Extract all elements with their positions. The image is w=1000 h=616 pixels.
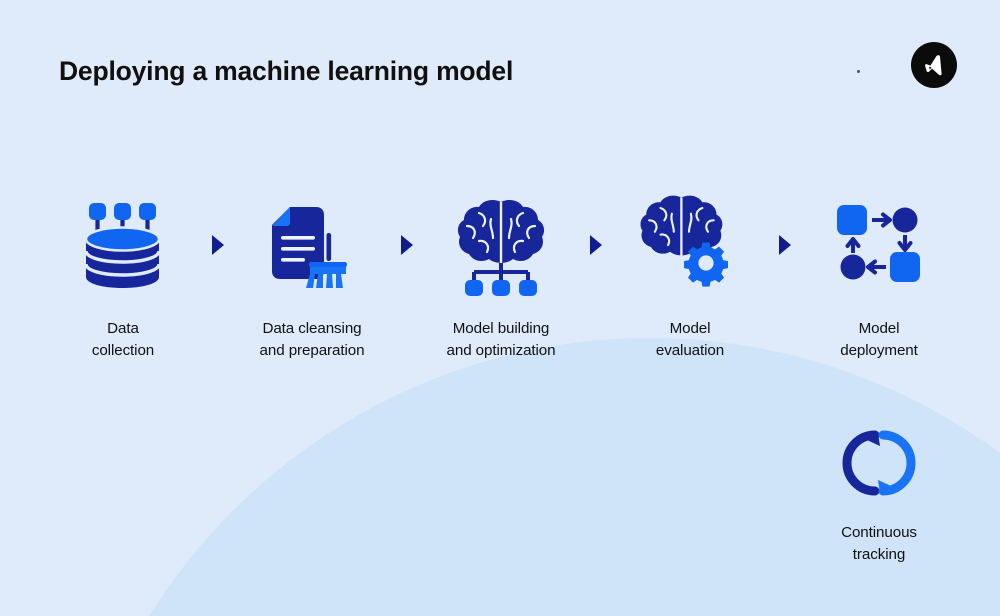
page-title: Deploying a machine learning model — [59, 56, 513, 87]
pipeline-step-model-evaluation[interactable]: Model evaluation — [615, 190, 765, 363]
arrow-right-triangle-icon — [394, 190, 420, 300]
image-artifact-dot — [857, 70, 860, 73]
pipeline-step-label: Model building and optimization — [447, 318, 556, 363]
arrow-right-triangle-icon — [205, 190, 231, 300]
brand-logo-icon — [911, 42, 957, 88]
arrow-right-triangle-icon — [583, 190, 609, 300]
pipeline-step-model-deployment[interactable]: Model deployment — [804, 190, 954, 363]
deployment-cycle-nodes-icon — [824, 190, 934, 300]
pipeline-step-data-cleansing-and-preparation[interactable]: Data cleansing and preparation — [237, 190, 387, 363]
brain-with-node-tree-icon — [446, 190, 556, 300]
brain-with-gear-icon — [635, 190, 745, 300]
arrow-right-triangle-icon — [772, 190, 798, 300]
pipeline-step-label: Data cleansing and preparation — [260, 318, 365, 363]
infographic-canvas: Deploying a machine learning model — [0, 0, 1000, 616]
pipeline-step-label: Model evaluation — [656, 318, 724, 363]
continuous-tracking-block[interactable]: Continuous tracking — [804, 420, 954, 567]
continuous-tracking-label: Continuous tracking — [841, 522, 917, 567]
pipeline-step-model-building-and-optimization[interactable]: Model building and optimization — [426, 190, 576, 363]
pipeline-row: Data collection — [48, 190, 954, 363]
pipeline-step-label: Data collection — [92, 318, 154, 363]
circular-refresh-arrows-icon — [833, 420, 925, 506]
pipeline-step-label: Model deployment — [840, 318, 918, 363]
database-cylinder-with-nodes-icon — [68, 190, 178, 300]
document-with-broom-icon — [257, 190, 367, 300]
pipeline-step-data-collection[interactable]: Data collection — [48, 190, 198, 363]
